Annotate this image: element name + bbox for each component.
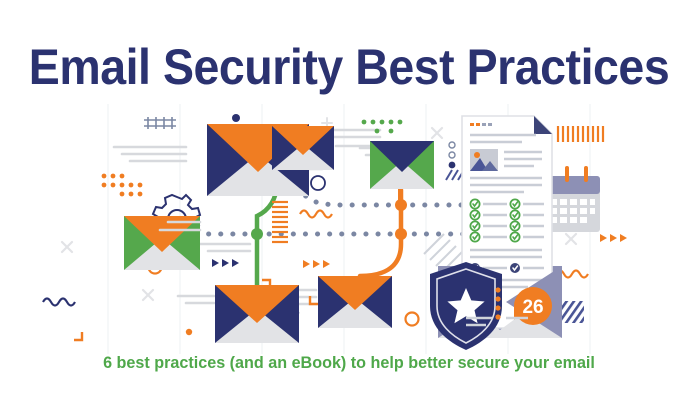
decor-dot-grid-green (362, 120, 403, 134)
decor-diagonal-stripes (562, 301, 584, 323)
page-title: Email Security Best Practices (24, 38, 673, 96)
page-subtitle: 6 best practices (and an eBook) to help … (17, 352, 680, 374)
badge-count: 26 (514, 287, 552, 325)
decor-stub-orange (398, 189, 403, 207)
path-node (251, 228, 263, 240)
envelope-top-mid-navy (272, 126, 334, 170)
decor-hatch-orange-right (558, 126, 603, 142)
decor-triangle-arrows-navy (212, 259, 239, 267)
decor-hatch-orange (272, 202, 288, 242)
badge-count-label: 26 (522, 297, 543, 318)
decor-circle-navy (232, 114, 240, 122)
poster-canvas: Email Security Best Practices (0, 0, 698, 419)
decor-circle-navy-outline (311, 176, 325, 190)
decor-squiggle-navy (43, 299, 75, 306)
decor-circle-orange-outline (406, 313, 419, 326)
decor-dot-column (449, 142, 456, 168)
path-node (395, 228, 407, 240)
email-security-illustration: 26 (0, 104, 698, 354)
envelope-top-right-green (370, 141, 434, 189)
decor-squiggle-orange (300, 211, 332, 218)
decor-circle-orange-small (186, 329, 192, 335)
decor-triangle-arrows-orange (303, 260, 330, 268)
envelope-bottom-mid-navy (318, 276, 392, 328)
envelope-bottom-left-navy (215, 285, 299, 343)
envelope-mid-left-green (124, 216, 200, 270)
decor-triangle-arrows-orange (600, 234, 627, 242)
decor-plus-grid (144, 117, 176, 129)
